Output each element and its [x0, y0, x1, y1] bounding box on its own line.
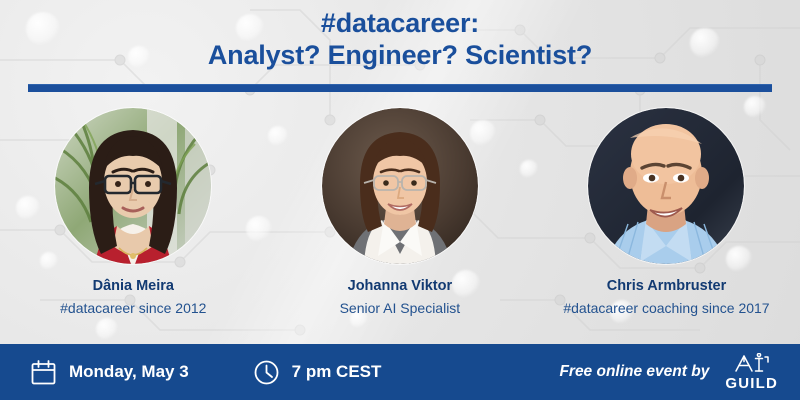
- header: #datacareer: Analyst? Engineer? Scientis…: [0, 8, 800, 72]
- logo-wordmark: GUILD: [725, 376, 778, 391]
- avatar: [55, 108, 211, 264]
- ai-monogram-icon: [732, 353, 772, 373]
- event-time: 7 pm CEST: [253, 359, 382, 386]
- page-title-line-2: Analyst? Engineer? Scientist?: [0, 40, 800, 72]
- speaker-name: Dânia Meira: [93, 279, 174, 295]
- organizer-text: Free online event by: [559, 363, 709, 381]
- avatar: [322, 108, 478, 264]
- footer-bar: Monday, May 3 7 pm CEST Free online even…: [0, 344, 800, 400]
- speaker-role: #datacareer coaching since 2017: [563, 300, 769, 316]
- event-date-label: Monday, May 3: [69, 362, 189, 382]
- ai-guild-logo: GUILD: [725, 353, 778, 391]
- speaker-role: Senior AI Specialist: [340, 300, 461, 316]
- speaker-name: Johanna Viktor: [348, 279, 452, 295]
- page-title-line-1: #datacareer:: [0, 8, 800, 40]
- organizer: Free online event by: [559, 353, 778, 391]
- clock-icon: [253, 359, 280, 386]
- header-divider: [28, 84, 772, 92]
- speaker-list: Dânia Meira #datacareer since 2012: [0, 108, 800, 316]
- speaker-card: Chris Armbruster #datacareer coaching si…: [533, 108, 800, 316]
- speaker-role: #datacareer since 2012: [60, 300, 206, 316]
- speaker-name: Chris Armbruster: [607, 279, 727, 295]
- event-time-label: 7 pm CEST: [292, 362, 382, 382]
- event-banner: #datacareer: Analyst? Engineer? Scientis…: [0, 0, 800, 400]
- calendar-icon: [30, 359, 57, 386]
- speaker-card: Johanna Viktor Senior AI Specialist: [267, 108, 534, 316]
- event-date: Monday, May 3: [30, 359, 189, 386]
- avatar: [588, 108, 744, 264]
- speaker-card: Dânia Meira #datacareer since 2012: [0, 108, 267, 316]
